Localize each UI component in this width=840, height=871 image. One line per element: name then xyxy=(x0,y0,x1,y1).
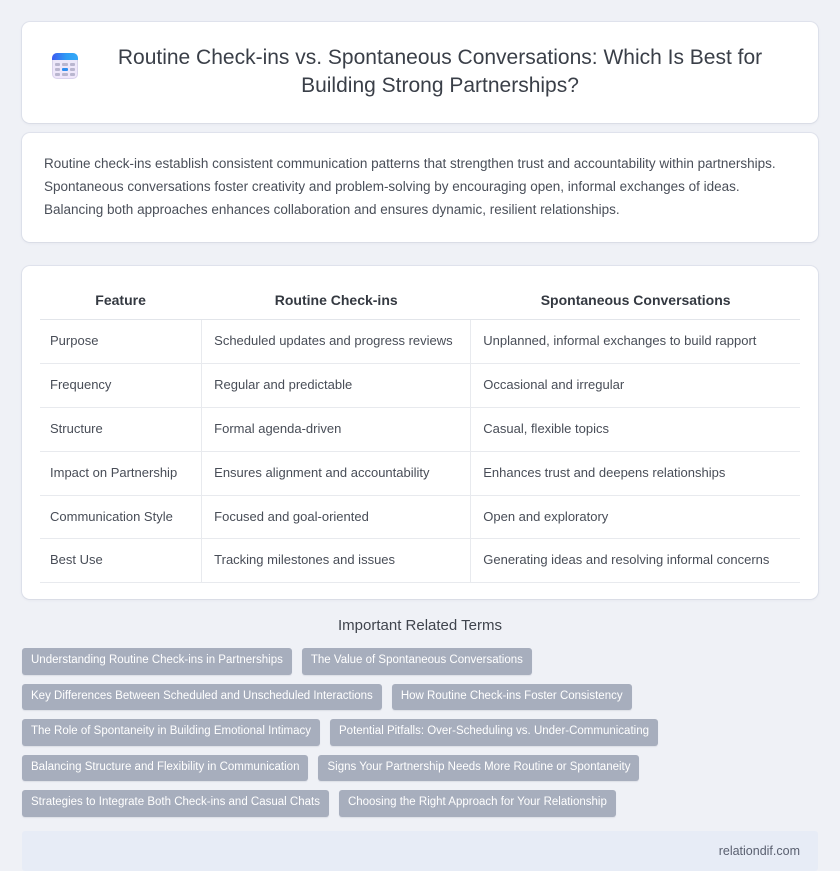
table-row: Frequency Regular and predictable Occasi… xyxy=(40,364,800,408)
related-terms-chip-list: Understanding Routine Check-ins in Partn… xyxy=(22,648,818,817)
footer-bar: relationdif.com xyxy=(22,831,818,871)
related-term-chip[interactable]: How Routine Check-ins Foster Consistency xyxy=(392,684,632,711)
related-term-chip[interactable]: Balancing Structure and Flexibility in C… xyxy=(22,755,308,782)
column-header-routine-checkins: Routine Check-ins xyxy=(202,280,471,320)
table-row: Impact on Partnership Ensures alignment … xyxy=(40,451,800,495)
related-term-chip[interactable]: Potential Pitfalls: Over-Scheduling vs. … xyxy=(330,719,658,746)
related-term-chip[interactable]: Choosing the Right Approach for Your Rel… xyxy=(339,790,616,817)
cell-spontaneous: Casual, flexible topics xyxy=(471,407,800,451)
related-term-chip[interactable]: Signs Your Partnership Needs More Routin… xyxy=(318,755,639,782)
cell-feature: Purpose xyxy=(40,320,202,364)
cell-routine: Scheduled updates and progress reviews xyxy=(202,320,471,364)
cell-spontaneous: Generating ideas and resolving informal … xyxy=(471,539,800,583)
header-card: Routine Check-ins vs. Spontaneous Conver… xyxy=(22,22,818,123)
related-term-chip[interactable]: The Value of Spontaneous Conversations xyxy=(302,648,532,675)
page-root: Routine Check-ins vs. Spontaneous Conver… xyxy=(0,0,840,844)
calendar-icon-header xyxy=(52,53,78,60)
cell-routine: Formal agenda-driven xyxy=(202,407,471,451)
related-term-chip[interactable]: Strategies to Integrate Both Check-ins a… xyxy=(22,790,329,817)
cell-feature: Impact on Partnership xyxy=(40,451,202,495)
cell-feature: Best Use xyxy=(40,539,202,583)
cell-feature: Frequency xyxy=(40,364,202,408)
cell-spontaneous: Open and exploratory xyxy=(471,495,800,539)
comparison-table: Feature Routine Check-ins Spontaneous Co… xyxy=(40,280,800,583)
related-terms-heading: Important Related Terms xyxy=(22,617,818,634)
table-row: Best Use Tracking milestones and issues … xyxy=(40,539,800,583)
column-header-spontaneous-conversations: Spontaneous Conversations xyxy=(471,280,800,320)
cell-routine: Regular and predictable xyxy=(202,364,471,408)
cell-routine: Focused and goal-oriented xyxy=(202,495,471,539)
table-row: Purpose Scheduled updates and progress r… xyxy=(40,320,800,364)
table-row: Structure Formal agenda-driven Casual, f… xyxy=(40,407,800,451)
calendar-icon xyxy=(52,53,78,79)
footer-site-name: relationdif.com xyxy=(719,844,800,858)
cell-spontaneous: Unplanned, informal exchanges to build r… xyxy=(471,320,800,364)
calendar-icon-grid xyxy=(55,63,75,76)
related-terms-section: Important Related Terms Understanding Ro… xyxy=(22,617,818,831)
table-header-row: Feature Routine Check-ins Spontaneous Co… xyxy=(40,280,800,320)
cell-spontaneous: Occasional and irregular xyxy=(471,364,800,408)
page-title: Routine Check-ins vs. Spontaneous Conver… xyxy=(92,44,788,99)
related-term-chip[interactable]: Understanding Routine Check-ins in Partn… xyxy=(22,648,292,675)
cell-routine: Tracking milestones and issues xyxy=(202,539,471,583)
cell-feature: Structure xyxy=(40,407,202,451)
comparison-table-card: Feature Routine Check-ins Spontaneous Co… xyxy=(22,266,818,599)
column-header-feature: Feature xyxy=(40,280,202,320)
related-term-chip[interactable]: Key Differences Between Scheduled and Un… xyxy=(22,684,382,711)
cell-routine: Ensures alignment and accountability xyxy=(202,451,471,495)
table-body: Purpose Scheduled updates and progress r… xyxy=(40,320,800,583)
cell-feature: Communication Style xyxy=(40,495,202,539)
related-term-chip[interactable]: The Role of Spontaneity in Building Emot… xyxy=(22,719,320,746)
table-row: Communication Style Focused and goal-ori… xyxy=(40,495,800,539)
description-text: Routine check-ins establish consistent c… xyxy=(44,153,796,222)
description-card: Routine check-ins establish consistent c… xyxy=(22,133,818,242)
cell-spontaneous: Enhances trust and deepens relationships xyxy=(471,451,800,495)
table-head: Feature Routine Check-ins Spontaneous Co… xyxy=(40,280,800,320)
